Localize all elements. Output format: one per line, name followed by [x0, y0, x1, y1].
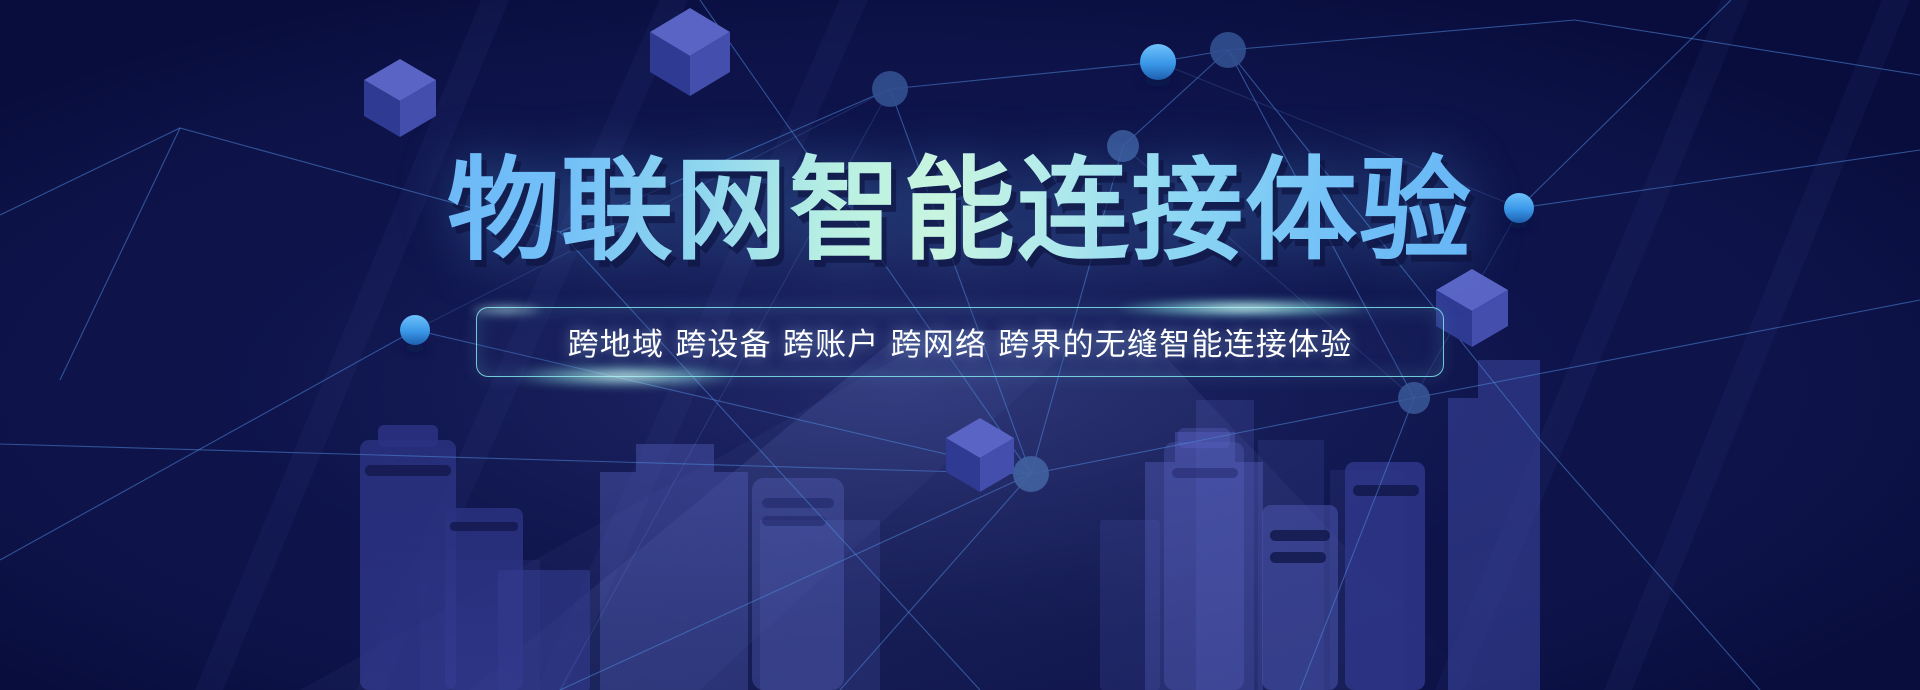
banner-content: 物联网智能连接体验 跨地域 跨设备 跨账户 跨网络 跨界的无缝智能连接体验	[0, 0, 1920, 690]
subtitle-text: 跨地域 跨设备 跨账户 跨网络 跨界的无缝智能连接体验	[568, 319, 1353, 364]
hero-banner: 物联网智能连接体验 跨地域 跨设备 跨账户 跨网络 跨界的无缝智能连接体验	[0, 0, 1920, 690]
glow-top-left	[471, 304, 541, 316]
page-title: 物联网智能连接体验	[447, 152, 1473, 271]
subtitle-box: 跨地域 跨设备 跨账户 跨网络 跨界的无缝智能连接体验	[476, 307, 1444, 377]
glow-bottom-left	[515, 366, 735, 386]
glow-top-right	[1119, 299, 1369, 317]
